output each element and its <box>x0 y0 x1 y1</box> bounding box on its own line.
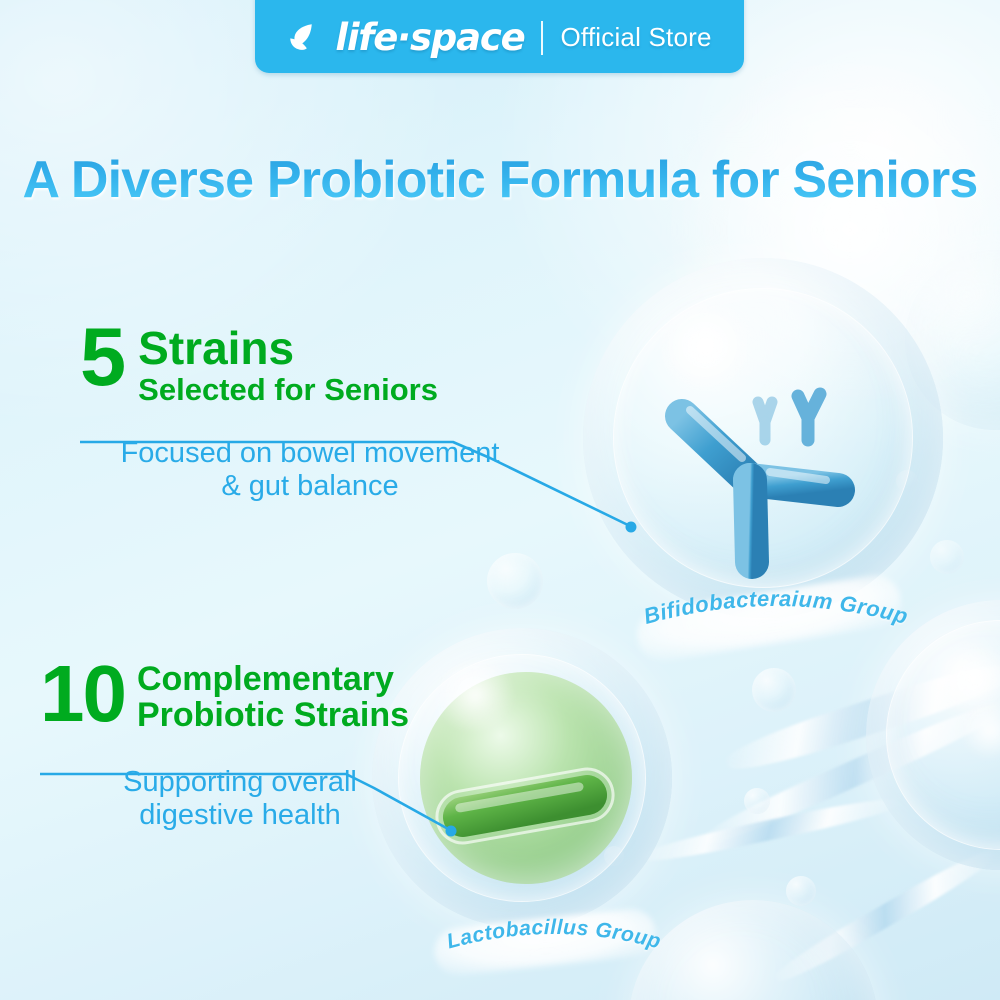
feature-strains-subtitle-1: Focused on bowel movement <box>80 437 540 470</box>
feature-strains-subtitle-2: & gut balance <box>80 470 540 503</box>
feature-complementary-number: 10 <box>40 660 125 729</box>
sphere-highlight <box>935 640 1000 720</box>
feature-strains-title-1: Strains <box>138 325 438 371</box>
page-title: A Diverse Probiotic Formula for Seniors <box>0 150 1000 210</box>
leaf-icon <box>287 21 320 54</box>
small-bubble <box>744 788 770 814</box>
small-bubble <box>487 553 543 609</box>
sphere-highlight <box>960 700 1000 760</box>
feature-complementary-title-1: Complementary <box>137 662 409 696</box>
lactobacillus-label: Lactobacillus Group <box>428 910 678 986</box>
feature-strains: 5 Strains Selected for Seniors Focused o… <box>80 325 540 503</box>
bifidobacterium-label-text: Bifidobacteraium Group <box>641 586 911 629</box>
small-bubble <box>786 876 816 906</box>
water-splash-streak <box>641 793 899 867</box>
feature-strains-subtitle: Focused on bowel movement & gut balance <box>80 437 540 504</box>
feature-strains-title-2: Selected for Seniors <box>138 374 438 407</box>
small-bubble <box>752 668 796 712</box>
store-label: Official Store <box>560 22 711 53</box>
feature-complementary-heading: 10 Complementary Probiotic Strains <box>40 662 440 734</box>
feature-complementary-subtitle-1: Supporting overall <box>40 766 440 799</box>
feature-strains-number: 5 <box>80 321 124 392</box>
brand-name: life·space <box>335 16 524 59</box>
official-store-banner[interactable]: life·space Official Store <box>255 0 744 73</box>
brand-divider <box>541 21 543 55</box>
lactobacillus-label-text: Lactobacillus Group <box>444 916 663 954</box>
feature-complementary-subtitle-2: digestive health <box>40 799 440 832</box>
feature-complementary-title-2: Probiotic Strains <box>137 698 409 734</box>
water-splash-streak <box>722 654 1000 779</box>
feature-complementary-subtitle: Supporting overall digestive health <box>40 766 440 833</box>
feature-complementary: 10 Complementary Probiotic Strains Suppo… <box>40 662 440 832</box>
lactobacillus-bubble-highlight <box>430 660 520 730</box>
small-bubble <box>930 540 964 574</box>
promo-banner: life·space Official Store A Diverse Prob… <box>0 0 1000 1000</box>
feature-strains-heading: 5 Strains Selected for Seniors <box>80 325 540 407</box>
water-splash-streak <box>771 844 999 988</box>
water-splash-streak <box>699 694 1000 852</box>
bifidobacterium-label: Bifidobacteraium Group <box>630 582 920 662</box>
svg-text:Lactobacillus Group: Lactobacillus Group <box>444 916 663 954</box>
svg-text:Bifidobacteraium Group: Bifidobacteraium Group <box>641 586 911 629</box>
decorative-sphere-topright <box>905 250 1000 430</box>
